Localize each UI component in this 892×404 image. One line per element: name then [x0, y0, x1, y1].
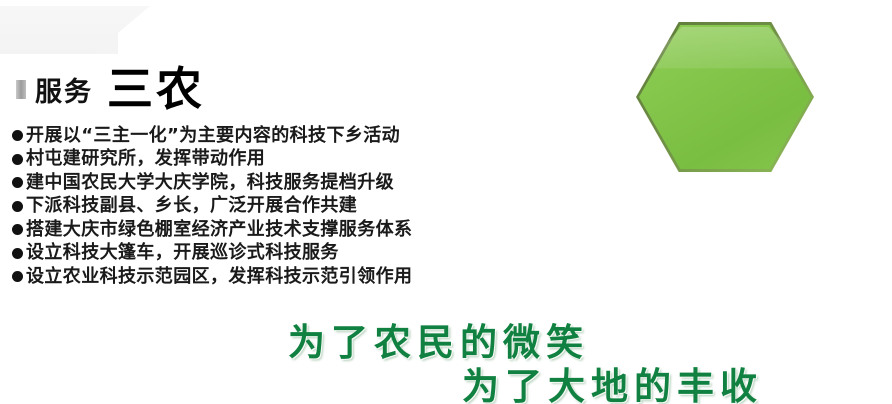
list-item-label: 设立农业科技示范园区，发挥科技示范引领作用: [26, 268, 412, 286]
bullet-dot-icon: [12, 248, 23, 259]
hexagon-graphic: [636, 22, 814, 172]
bullet-dot-icon: [12, 177, 23, 188]
page-title: 服务 三农: [16, 62, 205, 108]
list-item: 村屯建研究所，发挥带动作用: [12, 148, 412, 172]
list-item: 搭建大庆市绿色棚室经济产业技术支撑服务体系: [12, 218, 412, 242]
corner-wedge-diagonal: [0, 6, 150, 54]
list-item-label: 搭建大庆市绿色棚室经济产业技术支撑服务体系: [26, 221, 412, 239]
slogan-line-1: 为了农民的微笑: [288, 324, 589, 361]
bullet-list: 开展以“三主一化”为主要内容的科技下乡活动 村屯建研究所，发挥带动作用 建中国农…: [12, 124, 412, 289]
list-item-label: 村屯建研究所，发挥带动作用: [26, 150, 265, 168]
bullet-dot-icon: [12, 271, 23, 282]
list-item: 设立农业科技示范园区，发挥科技示范引领作用: [12, 265, 412, 289]
list-item: 建中国农民大学大庆学院，科技服务提档升级: [12, 171, 412, 195]
bullet-dot-icon: [12, 224, 23, 235]
bullet-dot-icon: [12, 154, 23, 165]
list-item: 设立科技大篷车，开展巡诊式科技服务: [12, 242, 412, 266]
page-title-prefix: 服务: [35, 79, 93, 106]
slide-canvas: 服务 三农 开展以“三主一化”为主要内容的科技下乡活动 村屯建研究所，发挥带动作…: [0, 0, 892, 404]
bullet-dot-icon: [12, 130, 23, 141]
list-item: 下派科技副县、乡长，广泛开展合作共建: [12, 195, 412, 219]
list-item-label: 设立科技大篷车，开展巡诊式科技服务: [26, 244, 339, 262]
page-title-main: 三农: [107, 66, 205, 112]
title-bar-mark: [16, 80, 26, 99]
list-item-label: 建中国农民大学大庆学院，科技服务提档升级: [26, 174, 394, 192]
slogan-line-2: 为了大地的丰收: [462, 368, 763, 404]
list-item: 开展以“三主一化”为主要内容的科技下乡活动: [12, 124, 412, 148]
bullet-dot-icon: [12, 201, 23, 212]
slogan-block: 为了农民的微笑 为了大地的丰收: [0, 316, 892, 404]
list-item-label: 开展以“三主一化”为主要内容的科技下乡活动: [26, 127, 400, 145]
list-item-label: 下派科技副县、乡长，广泛开展合作共建: [26, 197, 357, 215]
